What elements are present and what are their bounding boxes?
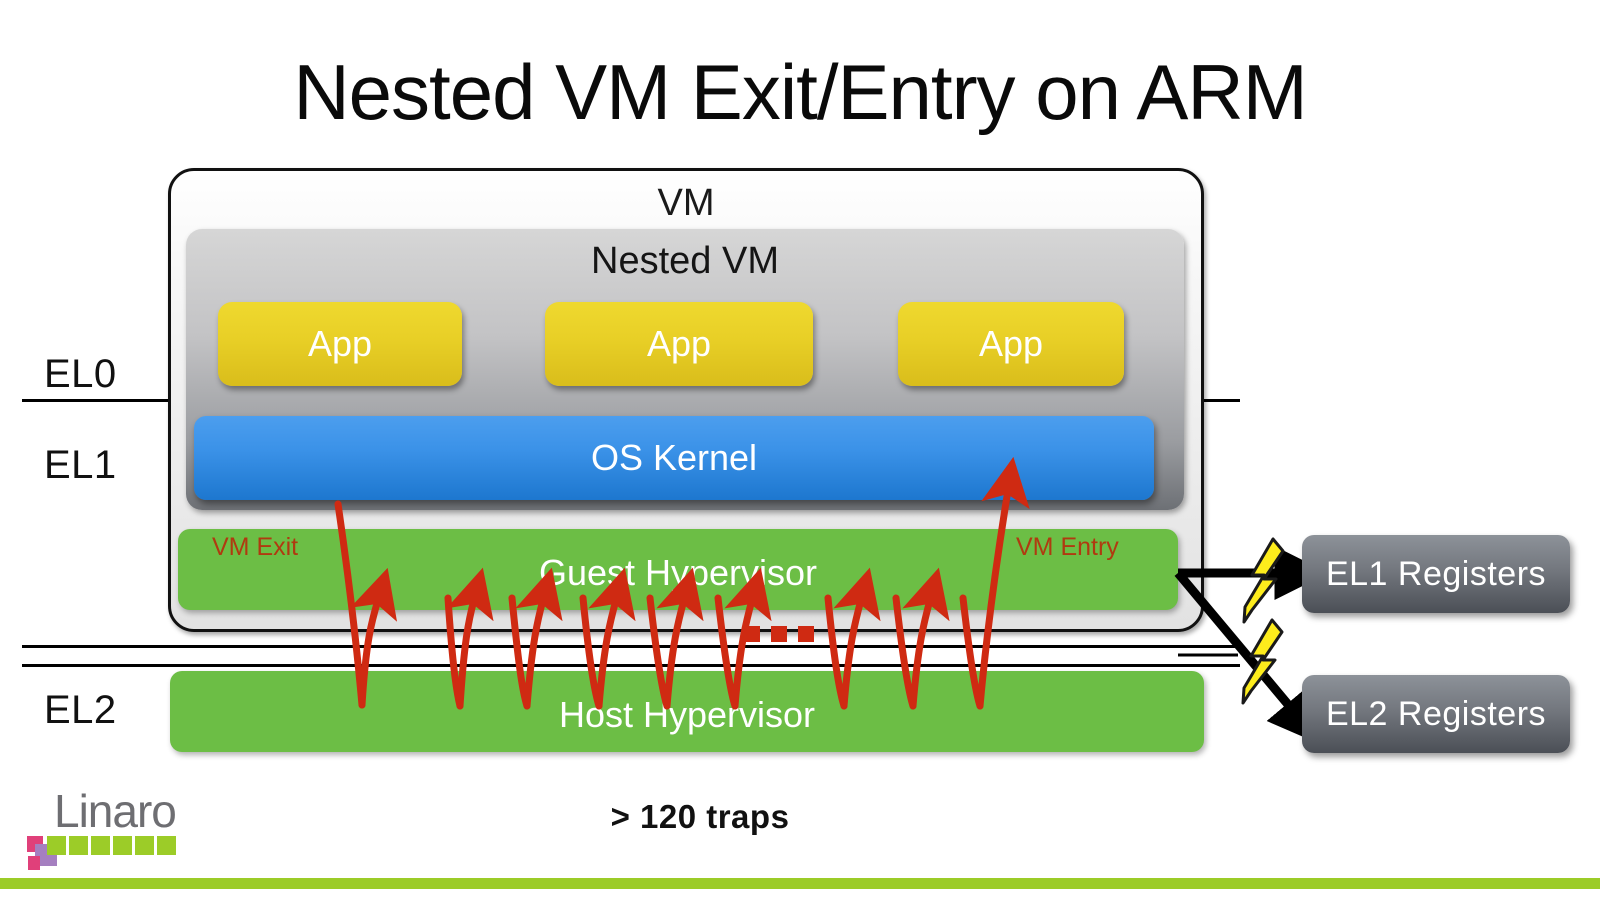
- app-box-1-label: App: [308, 323, 372, 365]
- app-box-3-label: App: [979, 323, 1043, 365]
- os-kernel-box: OS Kernel: [194, 416, 1154, 500]
- exception-level-label-el0: EL0: [44, 352, 117, 397]
- host-hypervisor-label: Host Hypervisor: [170, 694, 1204, 736]
- el1-divider-line: [22, 645, 1240, 648]
- lightning-bolt-icon-top: [1244, 539, 1283, 622]
- page-title: Nested VM Exit/Entry on ARM: [0, 52, 1600, 134]
- exception-level-label-el2: EL2: [44, 688, 117, 733]
- linaro-logo: Linaro: [24, 788, 204, 870]
- el2-registers-label: EL2 Registers: [1326, 695, 1546, 734]
- app-box-2: App: [545, 302, 813, 386]
- nested-vm-label: Nested VM: [186, 240, 1184, 283]
- app-box-1: App: [218, 302, 462, 386]
- traps-count-label: > 120 traps: [430, 798, 970, 836]
- ellipsis-dots-icon: [744, 626, 814, 642]
- vm-exit-label: VM Exit: [212, 533, 298, 562]
- slide-canvas: Nested VM Exit/Entry on ARM EL0 EL1 EL2 …: [0, 0, 1600, 900]
- el1-registers-label: EL1 Registers: [1326, 555, 1546, 594]
- bottom-accent-bar: [0, 878, 1600, 889]
- el2-registers-box: EL2 Registers: [1302, 675, 1570, 753]
- os-kernel-label: OS Kernel: [591, 437, 757, 479]
- app-box-2-label: App: [647, 323, 711, 365]
- exception-level-label-el1: EL1: [44, 443, 117, 488]
- el1-registers-box: EL1 Registers: [1302, 535, 1570, 613]
- vm-entry-label: VM Entry: [1016, 533, 1119, 562]
- app-box-3: App: [898, 302, 1124, 386]
- el2-divider-line: [22, 664, 1240, 667]
- linaro-logo-squares: [24, 788, 204, 870]
- vm-container-label: VM: [168, 182, 1204, 225]
- lightning-bolt-icon-bottom: [1243, 620, 1282, 703]
